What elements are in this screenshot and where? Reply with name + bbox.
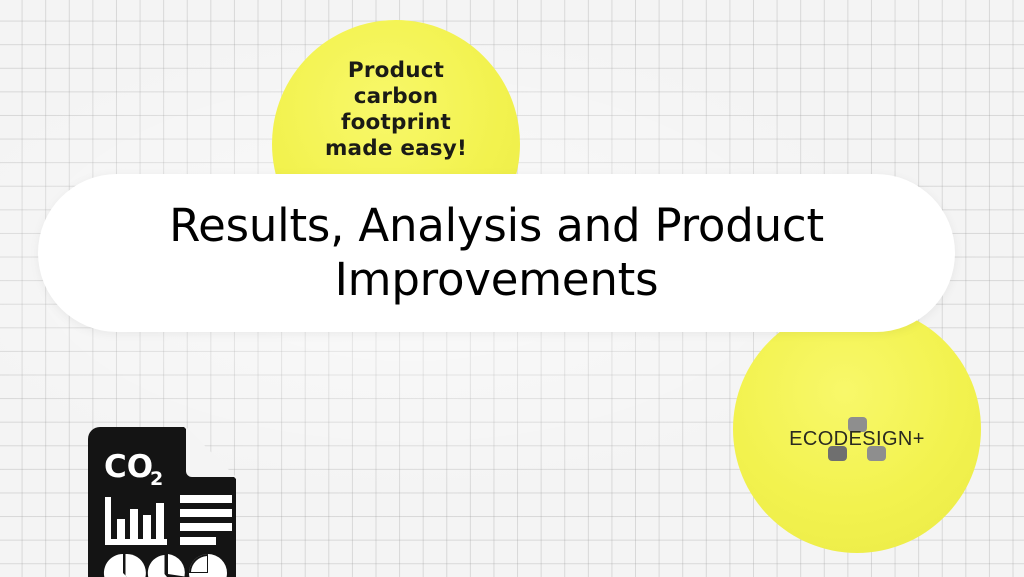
slide-title: Results, Analysis and Product Improvemen… bbox=[169, 199, 824, 307]
slide-canvas: Product carbon footprint made easy! ECOD… bbox=[0, 0, 1024, 577]
doc-co2-label: CO bbox=[104, 449, 153, 485]
co2-report-document-icon: CO 2 bbox=[88, 427, 236, 577]
tagline-text: Product carbon footprint made easy! bbox=[272, 58, 520, 162]
title-pill: Results, Analysis and Product Improvemen… bbox=[38, 174, 955, 332]
logo-wordmark: ECODESIGN+ bbox=[789, 429, 925, 449]
doc-co2-subscript: 2 bbox=[150, 468, 163, 490]
logo-circle: ECODESIGN+ bbox=[733, 305, 981, 553]
ecodesign-logo: ECODESIGN+ bbox=[733, 417, 981, 461]
